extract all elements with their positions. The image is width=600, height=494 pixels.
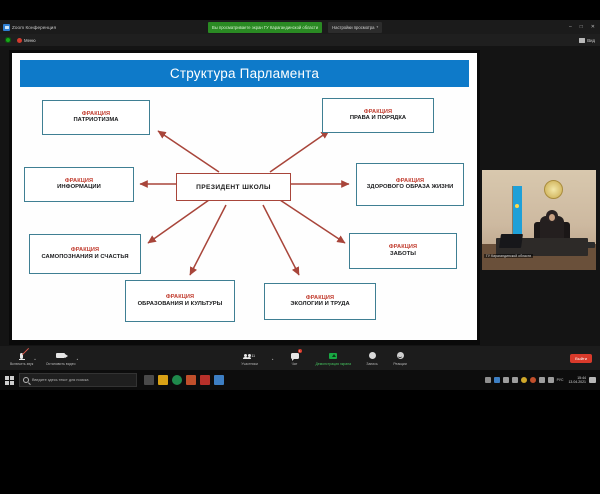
tray-shield-icon[interactable] [521,377,527,383]
fraction-box: ФРАКЦИЯ САМОПОЗНАНИЯ И СЧАСТЬЯ [29,234,141,274]
search-input[interactable]: Введите здесь текст для поиска [19,373,137,387]
tray-volume-icon[interactable] [539,377,545,383]
fraction-box: ФРАКЦИЯ ИНФОРМАЦИИ [24,167,134,202]
stop-video-button[interactable]: Остановить видео [46,351,76,366]
chat-unread-badge: 1 [298,349,302,353]
maximize-button[interactable]: □ [580,25,583,30]
participants-button[interactable]: 11 Участники [241,351,258,366]
fraction-box-line1: ФРАКЦИЯ [82,111,110,118]
clock[interactable]: 15:44 13.04.2021 [568,376,586,384]
fraction-box: ФРАКЦИЯ ПРАВА И ПОРЯДКА [322,98,434,133]
task-view-icon[interactable] [144,375,154,385]
shared-screen-region[interactable]: Структура Парламента [9,50,480,345]
record-icon [369,351,376,361]
tray-network-icon[interactable] [548,377,554,383]
zoom-taskbar-icon[interactable] [214,375,224,385]
mic-options-chevron-icon[interactable]: ▴ [34,357,36,361]
mute-button[interactable]: Включить звук [10,351,33,366]
fraction-box-line1: ФРАКЦИЯ [389,244,417,251]
record-button[interactable]: Запись [365,351,379,366]
tray-antivirus-icon[interactable] [530,377,536,383]
window-title: Zoom Конференция [12,25,56,30]
control-bar-center: 11 Участники ▴ 1 Чат Демонстрация экрана [241,351,407,366]
share-screen-button-label: Демонстрация экрана [316,362,352,366]
fraction-box-line1: ФРАКЦИЯ [396,178,424,185]
video-thumbnail-strip[interactable] [587,242,595,248]
participants-chevron-icon[interactable]: ▴ [272,357,274,361]
slide-title-text: Структура Парламента [170,66,319,81]
mute-button-label: Включить звук [10,362,33,366]
fraction-box-line2: ПАТРИОТИЗМА [73,117,118,124]
fraction-box: ФРАКЦИЯ ЗАБОТЫ [349,233,457,269]
chat-button-label: Чат [292,362,298,366]
zoom-window: Zoom Конференция Вы просматриваете экран… [0,20,600,370]
fraction-box-line2: ИНФОРМАЦИИ [57,184,101,191]
menu-button[interactable]: Меню [17,38,36,43]
start-button[interactable] [5,376,14,385]
connection-status-icon [5,37,11,43]
tray-chevron-icon[interactable] [485,377,491,383]
camera-icon [56,351,65,361]
tray-app-icon[interactable] [494,377,500,383]
people-icon: 11 [244,351,255,361]
zoom-control-bar: Включить звук ▴ Остановить видео ▴ 11 Уч… [0,346,600,370]
reactions-button[interactable]: Реакции [393,351,407,366]
slide-title: Структура Парламента [20,60,469,87]
taskbar-pinned-apps [144,375,224,385]
chevron-down-icon: ▾ [377,25,379,29]
layout-grid-icon [579,38,585,43]
record-button-label: Запись [366,362,377,366]
fraction-box-line1: ФРАКЦИЯ [306,295,334,302]
clock-date: 13.04.2021 [568,380,586,384]
zoom-app-icon [3,24,10,31]
pdf-reader-icon[interactable] [200,375,210,385]
participants-button-label: Участники [241,362,258,366]
share-screen-icon [329,351,337,361]
mail-icon[interactable] [186,375,196,385]
window-titlebar: Zoom Конференция Вы просматриваете экран… [0,20,600,34]
browser-icon[interactable] [172,375,182,385]
fraction-box-line2: ПРАВА И ПОРЯДКА [350,115,406,122]
view-button[interactable]: Вид [579,38,600,43]
fraction-box-line2: САМОПОЗНАНИЯ И СЧАСТЬЯ [41,254,128,261]
fraction-box-line1: ФРАКЦИЯ [364,109,392,116]
fraction-box: ФРАКЦИЯ ЭКОЛОГИИ И ТРУДА [264,283,376,320]
zoom-subbar: Меню Вид [0,34,600,46]
fraction-box: ФРАКЦИЯ ПАТРИОТИЗМА [42,100,150,135]
participants-count: 11 [252,354,256,358]
file-explorer-icon[interactable] [158,375,168,385]
fraction-box: ФРАКЦИЯ ЗДОРОВОГО ОБРАЗА ЖИЗНИ [356,163,464,206]
person-face [549,214,555,221]
tray-onedrive-icon[interactable] [503,377,509,383]
window-app-identity: Zoom Конференция [0,24,208,31]
presentation-slide: Структура Парламента [12,53,477,340]
fraction-box-line2: ЗАБОТЫ [390,251,416,258]
fraction-box-line2: ОБРАЗОВАНИЯ И КУЛЬТУРЫ [138,301,223,308]
share-screen-button[interactable]: Демонстрация экрана [316,351,352,366]
fraction-box: ФРАКЦИЯ ОБРАЗОВАНИЯ И КУЛЬТУРЫ [125,280,235,322]
reactions-icon [397,351,404,361]
participant-name-label: ГУ Карагандинской области [484,254,533,258]
center-node-label: ПРЕЗИДЕНТ ШКОЛЫ [196,184,271,191]
screen-share-banner: Вы просматриваете экран ГУ Карагандинско… [208,22,322,33]
participant-video-tile[interactable]: ГУ Карагандинской области [482,170,596,270]
windows-taskbar: Введите здесь текст для поиска РУС [0,370,600,390]
microphone-muted-icon [20,351,23,361]
system-tray: РУС 15:44 13.04.2021 [485,376,600,384]
state-emblem-icon [544,180,563,199]
language-indicator[interactable]: РУС [557,378,564,382]
control-bar-right: Выйти [570,354,600,363]
view-label: Вид [587,38,595,43]
stop-video-button-label: Остановить видео [46,362,76,366]
view-settings-label: Настройки просмотра [332,25,374,30]
close-button[interactable]: ✕ [591,25,595,30]
control-bar-left: Включить звук ▴ Остановить видео ▴ [0,351,78,366]
video-options-chevron-icon[interactable]: ▴ [77,357,79,361]
notifications-icon[interactable] [589,377,596,383]
view-settings-button[interactable]: Настройки просмотра ▾ [328,22,382,33]
kazakhstan-flag [512,186,522,238]
laptop-icon [499,234,523,248]
fraction-box-line2: ЗДОРОВОГО ОБРАЗА ЖИЗНИ [367,184,454,191]
screen: Zoom Конференция Вы просматриваете экран… [0,0,600,494]
search-icon [23,377,29,383]
center-node-president: ПРЕЗИДЕНТ ШКОЛЫ [176,173,291,201]
tray-usb-icon[interactable] [512,377,518,383]
window-buttons: – □ ✕ [569,25,600,30]
record-indicator-icon [17,38,22,43]
fraction-box-line2: ЭКОЛОГИИ И ТРУДА [290,301,349,308]
fraction-box-line1: ФРАКЦИЯ [166,294,194,301]
chat-button[interactable]: 1 Чат [288,351,302,366]
menu-label: Меню [24,38,36,43]
fraction-box-line1: ФРАКЦИЯ [71,247,99,254]
leave-meeting-button[interactable]: Выйти [570,354,592,363]
chat-icon: 1 [291,351,299,361]
search-placeholder: Введите здесь текст для поиска [32,378,88,382]
fraction-box-line1: ФРАКЦИЯ [65,178,93,185]
reactions-button-label: Реакции [393,362,406,366]
minimize-button[interactable]: – [569,25,572,30]
